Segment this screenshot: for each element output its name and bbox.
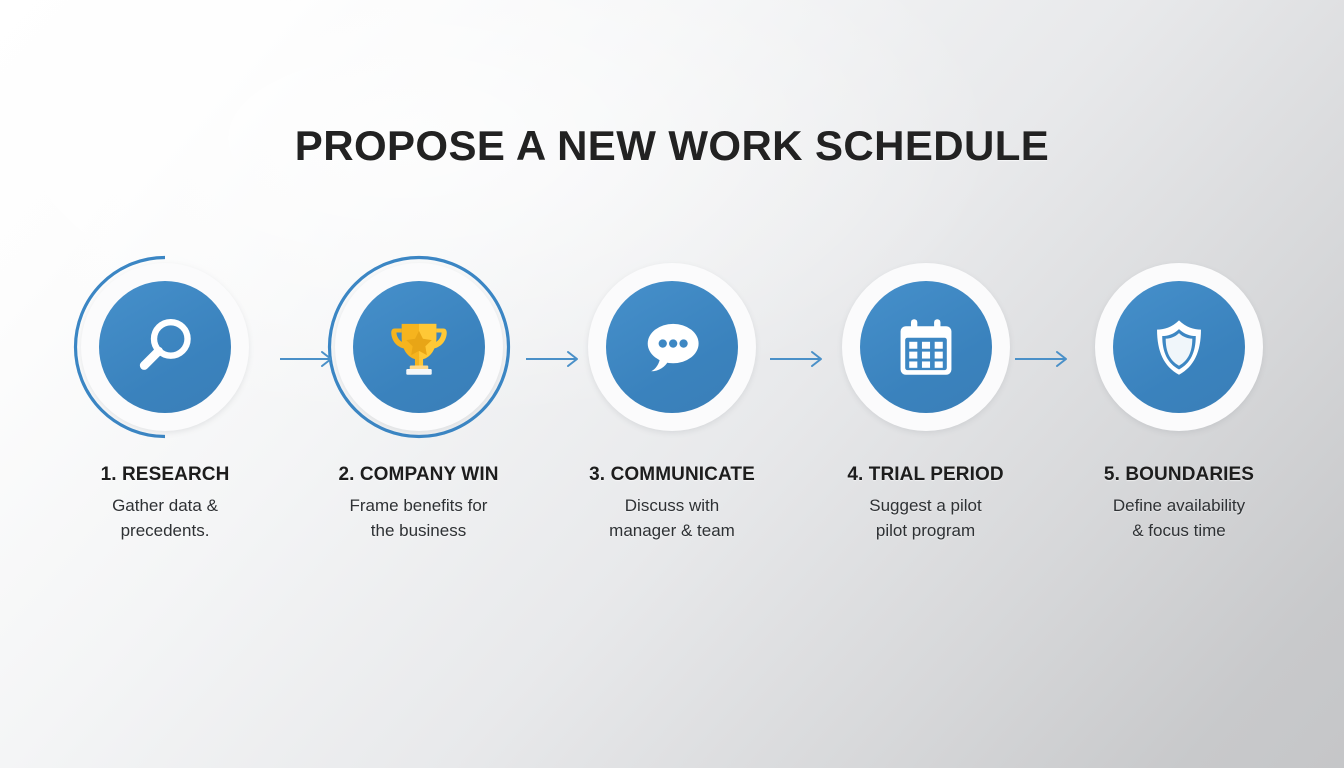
- magnifier-icon: [128, 310, 202, 384]
- step-description-line-2: & focus time: [1074, 518, 1284, 543]
- step-3-icon-badge[interactable]: [579, 254, 765, 440]
- speech-bubble-icon: [635, 310, 709, 384]
- process-step-3[interactable]: 3. COMMUNICATE Discuss with manager & te…: [579, 254, 765, 543]
- step-title: 3. COMMUNICATE: [567, 464, 777, 486]
- step-description-line-1: Define availability: [1074, 493, 1284, 518]
- arrow-step1-to-step2: [280, 348, 342, 370]
- shield-icon: [1142, 310, 1216, 384]
- blue-circle: [860, 281, 992, 413]
- step-2-labels: 2. COMPANY WIN Frame benefits for the bu…: [314, 464, 524, 543]
- step-title: 2. COMPANY WIN: [314, 464, 524, 486]
- step-description-line-2: the business: [314, 518, 524, 543]
- step-description-line-2: precedents.: [60, 518, 270, 543]
- step-1-labels: 1. RESEARCH Gather data & precedents.: [60, 464, 270, 543]
- page-title: PROPOSE A NEW WORK SCHEDULE: [0, 122, 1344, 170]
- step-description: Define availability & focus time: [1074, 493, 1284, 543]
- step-description: Suggest a pilot pilot program: [821, 493, 1031, 543]
- step-4-labels: 4. TRIAL PERIOD Suggest a pilot pilot pr…: [821, 464, 1031, 543]
- step-description-line-2: pilot program: [821, 518, 1031, 543]
- step-description: Discuss with manager & team: [567, 493, 777, 543]
- process-step-2[interactable]: 2. COMPANY WIN Frame benefits for the bu…: [326, 254, 512, 543]
- blue-circle: [1113, 281, 1245, 413]
- step-title: 5. BOUNDARIES: [1074, 464, 1284, 486]
- process-step-5[interactable]: 5. BOUNDARIES Define availability & focu…: [1086, 254, 1272, 543]
- step-description-line-1: Discuss with: [567, 493, 777, 518]
- arrow-step2-to-step3: [526, 348, 588, 370]
- step-3-labels: 3. COMMUNICATE Discuss with manager & te…: [567, 464, 777, 543]
- step-description-line-2: manager & team: [567, 518, 777, 543]
- step-5-icon-badge[interactable]: [1086, 254, 1272, 440]
- process-step-4[interactable]: 4. TRIAL PERIOD Suggest a pilot pilot pr…: [833, 254, 1019, 543]
- step-2-icon-badge[interactable]: [326, 254, 512, 440]
- process-step-list: 1. RESEARCH Gather data & precedents.: [72, 254, 1272, 543]
- step-description-line-1: Gather data &: [60, 493, 270, 518]
- arrow-step3-to-step4: [770, 348, 832, 370]
- step-description-line-1: Frame benefits for: [314, 493, 524, 518]
- step-title: 1. RESEARCH: [60, 464, 270, 486]
- process-step-1[interactable]: 1. RESEARCH Gather data & precedents.: [72, 254, 258, 543]
- infographic-slide: PROPOSE A NEW WORK SCHEDULE 1. RESEARCH: [0, 0, 1344, 768]
- step-5-labels: 5. BOUNDARIES Define availability & focu…: [1074, 464, 1284, 543]
- step-title: 4. TRIAL PERIOD: [821, 464, 1031, 486]
- blue-circle: [99, 281, 231, 413]
- blue-circle: [606, 281, 738, 413]
- blue-circle: [353, 281, 485, 413]
- trophy-icon: [382, 310, 456, 384]
- step-1-icon-badge[interactable]: [72, 254, 258, 440]
- arrow-step4-to-step5: [1015, 348, 1077, 370]
- step-4-icon-badge[interactable]: [833, 254, 1019, 440]
- step-description: Gather data & precedents.: [60, 493, 270, 543]
- step-description: Frame benefits for the business: [314, 493, 524, 543]
- step-description-line-1: Suggest a pilot: [821, 493, 1031, 518]
- calendar-icon: [889, 310, 963, 384]
